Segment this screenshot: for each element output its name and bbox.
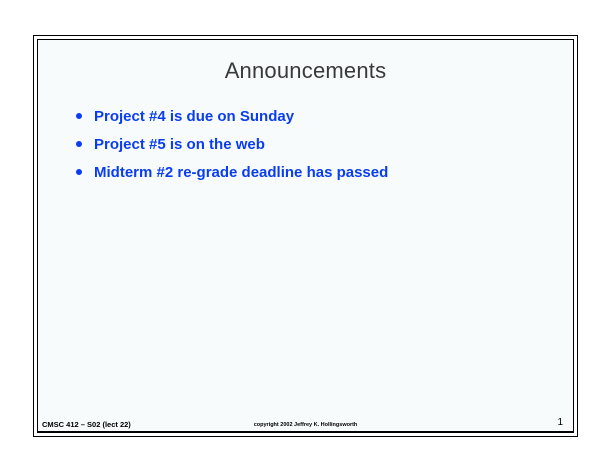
list-item: Project #4 is due on Sunday	[76, 108, 553, 127]
bullet-list: Project #4 is due on Sunday Project #5 i…	[76, 108, 553, 191]
footer-page-number: 1	[557, 417, 563, 428]
list-item: Project #5 is on the web	[76, 136, 553, 155]
list-item-label: Project #4 is due on Sunday	[94, 108, 294, 127]
slide-title: Announcements	[38, 58, 573, 84]
list-item-label: Project #5 is on the web	[94, 136, 265, 155]
list-item-label: Midterm #2 re-grade deadline has passed	[94, 164, 388, 183]
slide-frame-inner: Announcements Project #4 is due on Sunda…	[37, 39, 574, 433]
slide-footer: CMSC 412 – S02 (lect 22) copyright 2002 …	[38, 408, 573, 432]
footer-copyright: copyright 2002 Jeffrey K. Hollingsworth	[38, 422, 573, 428]
list-item: Midterm #2 re-grade deadline has passed	[76, 164, 553, 183]
slide-frame-outer: Announcements Project #4 is due on Sunda…	[33, 35, 578, 437]
